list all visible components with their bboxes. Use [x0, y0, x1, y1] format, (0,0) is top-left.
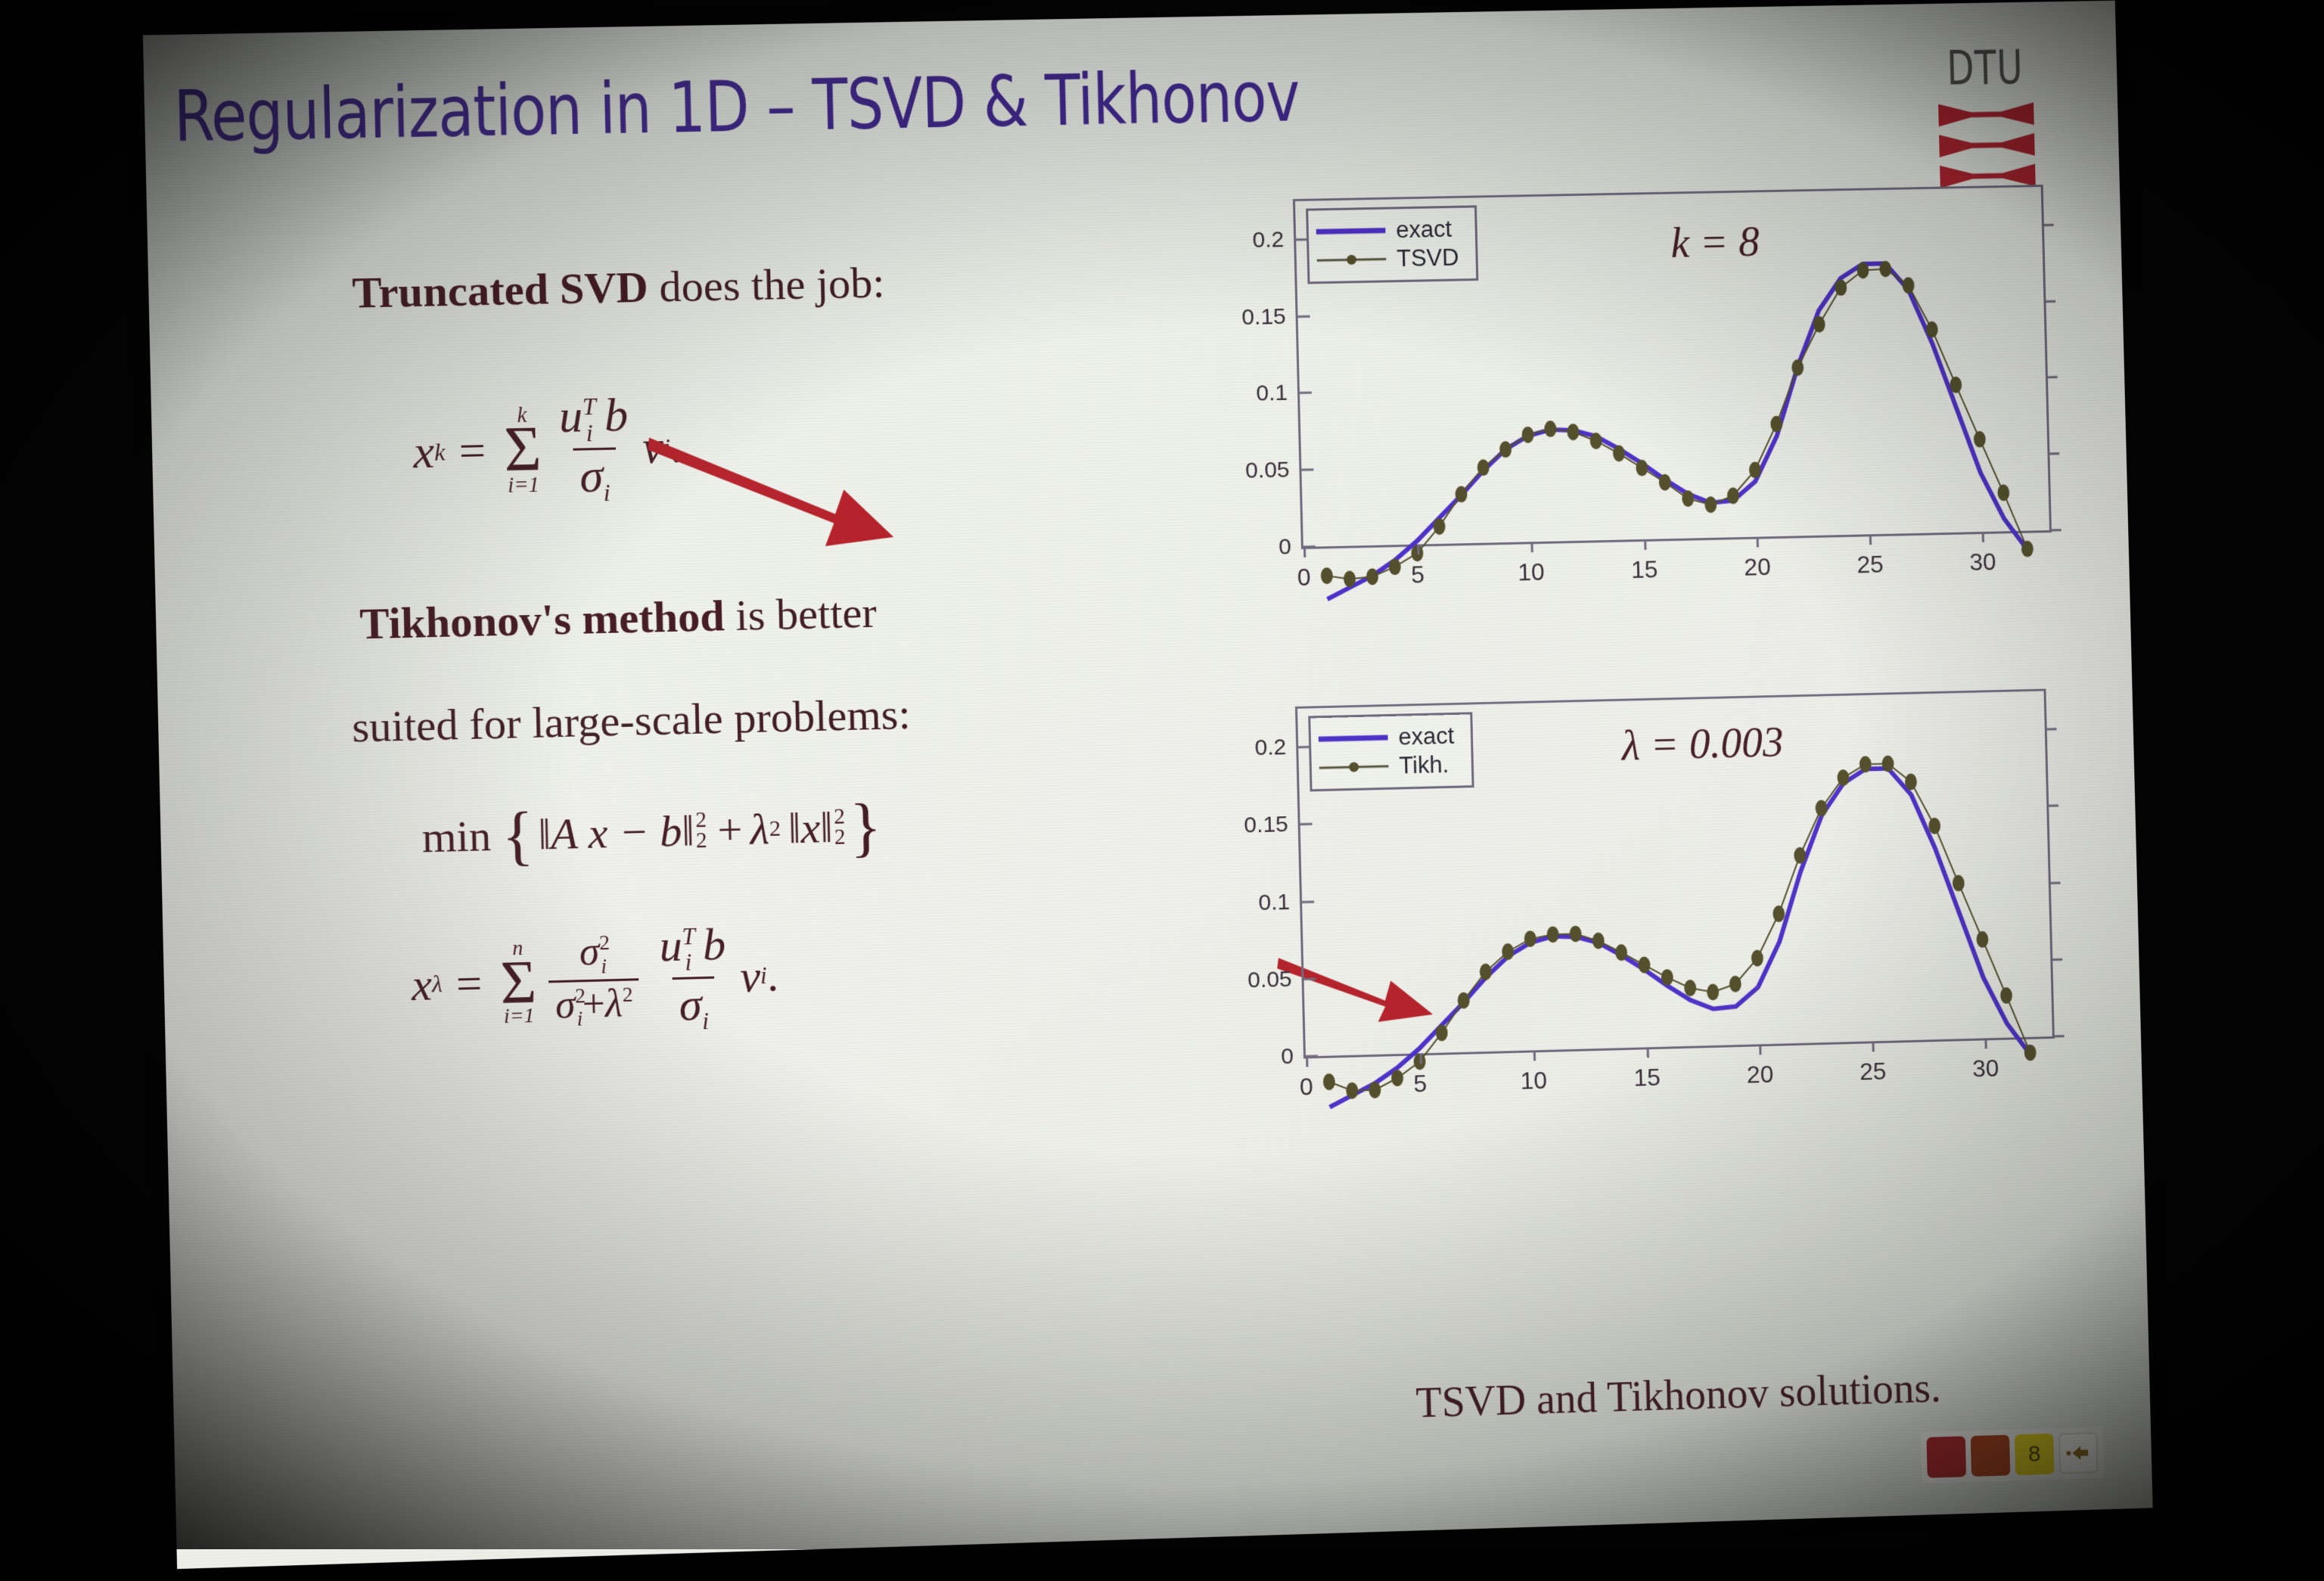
- text-tikhonov-second-line: suited for large-scale problems:: [352, 688, 912, 753]
- eq-xk-u-sub: i: [586, 419, 593, 446]
- eq-xl-fnum-sup: 2: [599, 932, 611, 955]
- eq-xl-lhs: x: [411, 958, 433, 1011]
- y-axis-tick: 0.1: [1256, 380, 1300, 407]
- arrow-to-tsvd-plot-icon: [646, 424, 900, 562]
- data-point: [1323, 1073, 1335, 1090]
- eq-min-norm2-sup: 2: [834, 807, 845, 828]
- eq-xl-u: u: [659, 920, 683, 971]
- projected-slide-photo: Regularization in 1D – TSVD & Tikhonov D…: [0, 0, 2324, 1549]
- eq-xl-fnum-sigma: σ: [579, 930, 600, 974]
- eq-min-lambda: λ: [750, 803, 770, 855]
- tsvd-plot: k = 8 exact TSVD 00.050.10.150.205101520…: [1210, 172, 2059, 608]
- eq-xl-sigma-sub: i: [702, 1008, 710, 1034]
- nav-red-1[interactable]: [1926, 1436, 1966, 1477]
- next-arrow-icon: [2065, 1442, 2091, 1464]
- eq-xl-sigma: σ: [679, 979, 702, 1030]
- text-tikhonov-method: Tikhonov's method is better: [359, 587, 878, 650]
- eq-xl-ub-numerator: uTi b: [653, 921, 733, 978]
- x-axis-tick: 30: [1969, 548, 1996, 576]
- equation-tikhonov-solution: xλ = n Σ i=1 σ2i σ2i+λ2 uT: [410, 919, 779, 1042]
- eq-xk-sigma: σ: [579, 450, 604, 502]
- slide-navigation[interactable]: 8: [1920, 1427, 2104, 1483]
- dtu-bar-2: [1939, 133, 2035, 157]
- eq-xl-lhs-sub: λ: [432, 971, 443, 999]
- y-axis-tick: 0: [1281, 1043, 1306, 1070]
- eq-xl-filter-fraction: σ2i σ2i+λ2: [548, 930, 640, 1031]
- x-axis-tick: 0: [1300, 1073, 1314, 1101]
- y-axis-tick: 0.05: [1245, 457, 1302, 484]
- eq-xl-filter-denominator: σ2i+λ2: [548, 978, 639, 1031]
- eq-min-norm1: ‖A x − b‖: [538, 805, 695, 859]
- y-axis-tick: 0.2: [1252, 227, 1296, 253]
- eq-min-norm2-exp: 2 2: [834, 807, 846, 847]
- x-axis-tick: 0: [1297, 564, 1312, 592]
- x-axis-tick: 5: [1413, 1070, 1428, 1098]
- eq-xk-u: u: [558, 390, 583, 443]
- eq-xk-denominator: σi: [573, 448, 617, 508]
- y-axis-tick: 0.1: [1258, 889, 1302, 915]
- nav-red-2[interactable]: [1971, 1435, 2011, 1477]
- eq-min-plus: +: [717, 804, 744, 856]
- y-axis-tick-right: [2049, 881, 2061, 884]
- data-point: [1684, 980, 1696, 996]
- tikhonov-plot-axes: λ = 0.003 exact Tikh. 00.050.10.150.2051…: [1295, 688, 2055, 1058]
- dtu-wordmark: DTU: [1931, 44, 2040, 92]
- x-axis-tick: 10: [1520, 1067, 1547, 1095]
- eq-xl-ub-fraction: uTi b σi: [653, 921, 734, 1036]
- eq-min-norm1-sub: 2: [696, 830, 707, 850]
- x-axis-tick: 25: [1860, 1058, 1887, 1086]
- text-tikhonov-rest: is better: [724, 588, 877, 641]
- eq-xk-sigma-sub: i: [603, 479, 611, 506]
- eq-min-brace-close: }: [849, 787, 882, 865]
- data-point: [1544, 421, 1556, 437]
- eq-min-norm1-exp: 2 2: [695, 810, 707, 850]
- data-point: [1928, 818, 1940, 834]
- y-axis-tick: 0.05: [1247, 966, 1304, 993]
- eq-xk-sum-lower: i=1: [508, 477, 539, 495]
- eq-xk-lhs: x: [412, 426, 434, 480]
- data-point: [1546, 926, 1558, 943]
- y-axis-tick-right: [2047, 452, 2059, 455]
- data-point: [2000, 987, 2012, 1004]
- slide-surface: Regularization in 1D – TSVD & Tikhonov D…: [143, 0, 2176, 1581]
- x-axis-tick: 10: [1518, 558, 1545, 587]
- x-axis-tick: 20: [1747, 1061, 1774, 1089]
- x-axis-tick: 25: [1856, 551, 1884, 579]
- x-axis-tick: 5: [1411, 561, 1425, 589]
- eq-xl-u-sub: i: [685, 949, 692, 975]
- eq-xk-sigma-glyph: Σ: [504, 424, 542, 477]
- equation-tsvd-solution: xk = k Σ i=1 uTi b σi vi.: [412, 390, 684, 511]
- tsvd-plot-curves: [1295, 187, 2052, 622]
- eq-xl-u-sup: T: [682, 923, 695, 950]
- tikhonov-plot-curves: [1297, 691, 2054, 1131]
- data-point: [1567, 424, 1579, 440]
- eq-xk-b: b: [604, 390, 629, 442]
- y-axis-tick: 0.15: [1241, 303, 1298, 330]
- eq-xl-filter-numerator: σ2i: [573, 930, 613, 980]
- page-title: Regularization in 1D – TSVD & Tikhonov: [173, 49, 1682, 157]
- eq-min-brace-open: {: [501, 796, 535, 874]
- series-line-exact: [1322, 765, 2030, 1107]
- y-axis-tick: 0.15: [1244, 812, 1300, 839]
- y-axis-tick-right: [2042, 224, 2054, 226]
- equation-tikhonov-minimization: min { ‖A x − b‖ 2 2 + λ2 ‖x‖ 2 2 }: [421, 787, 883, 875]
- y-axis-tick-right: [2046, 376, 2058, 378]
- slide: Regularization in 1D – TSVD & Tikhonov D…: [143, 1, 2153, 1569]
- x-axis-tick: 30: [1972, 1055, 1999, 1083]
- y-axis-tick: 0.2: [1254, 735, 1298, 761]
- y-axis-tick: 0: [1279, 534, 1303, 561]
- eq-xk-sum: k Σ i=1: [503, 406, 542, 495]
- y-axis-tick-right: [2052, 1035, 2065, 1037]
- data-point: [1976, 931, 1988, 948]
- eq-xl-sum-lower: i=1: [504, 1008, 535, 1026]
- y-axis-tick-right: [2049, 529, 2061, 531]
- nav-page-number[interactable]: 8: [2015, 1433, 2055, 1475]
- x-axis-tick: 20: [1744, 553, 1771, 582]
- data-point: [1902, 277, 1914, 294]
- y-axis-tick-right: [2046, 805, 2058, 807]
- y-axis-tick-right: [2045, 728, 2057, 730]
- eq-xl-period: .: [766, 949, 779, 1002]
- data-point: [1773, 905, 1785, 922]
- tsvd-plot-axes: k = 8 exact TSVD 00.050.10.150.205101520…: [1293, 185, 2052, 549]
- data-point: [1974, 431, 1986, 448]
- dtu-logo: DTU: [1921, 44, 2051, 188]
- eq-min-norm2-sub: 2: [834, 827, 846, 847]
- data-point: [1707, 983, 1719, 1000]
- eq-min-lambda-sup: 2: [769, 815, 781, 842]
- dtu-bar-1: [1938, 102, 2034, 126]
- eq-xl-fden-plus: +: [582, 981, 605, 1026]
- eq-xl-fnum-sub: i: [601, 955, 607, 977]
- eq-xl-fden-lambda-sup: 2: [622, 983, 633, 1007]
- eq-xl-b: b: [702, 919, 726, 970]
- text-truncated-svd: Truncated SVD does the job:: [352, 257, 885, 318]
- text-tikhonov-bold: Tikhonov's method: [359, 591, 725, 648]
- figure-caption: TSVD and Tikhonov solutions.: [1302, 1361, 2053, 1431]
- eq-xk-u-sup: T: [582, 393, 596, 421]
- x-axis-tick: 15: [1631, 555, 1658, 584]
- eq-xk-lhs-sub: k: [434, 438, 446, 467]
- data-point: [1321, 567, 1333, 584]
- y-axis-tick-right: [2043, 300, 2055, 303]
- eq-xl-fden-lambda: λ: [604, 981, 623, 1026]
- text-truncated-svd-bold: Truncated SVD: [352, 262, 649, 318]
- eq-xl-ub-denominator: σi: [673, 976, 715, 1035]
- x-axis-tick: 15: [1633, 1064, 1661, 1092]
- eq-xl-equals: =: [455, 957, 483, 1010]
- eq-xl-sigma-glyph: Σ: [500, 957, 537, 1008]
- eq-min-norm1-sup: 2: [695, 810, 707, 831]
- text-truncated-svd-rest: does the job:: [648, 258, 885, 312]
- eq-xk-fraction: uTi b σi: [552, 391, 636, 508]
- tikhonov-plot: λ = 0.003 exact Tikh. 00.050.10.150.2051…: [1212, 676, 2062, 1118]
- eq-min-word: min: [421, 810, 492, 863]
- eq-xk-equals: =: [458, 424, 486, 479]
- data-point: [1997, 484, 2009, 501]
- eq-xl-v: v: [739, 950, 760, 1003]
- eq-xl-sum: n Σ i=1: [499, 940, 537, 1026]
- data-point: [1953, 874, 1965, 891]
- nav-next-arrow[interactable]: [2058, 1432, 2099, 1474]
- eq-xl-fden-sigma: σ: [555, 982, 576, 1027]
- y-axis-tick-right: [2050, 958, 2062, 961]
- eq-xk-numerator: uTi b: [552, 391, 635, 449]
- eq-min-norm2: ‖x‖: [788, 802, 833, 854]
